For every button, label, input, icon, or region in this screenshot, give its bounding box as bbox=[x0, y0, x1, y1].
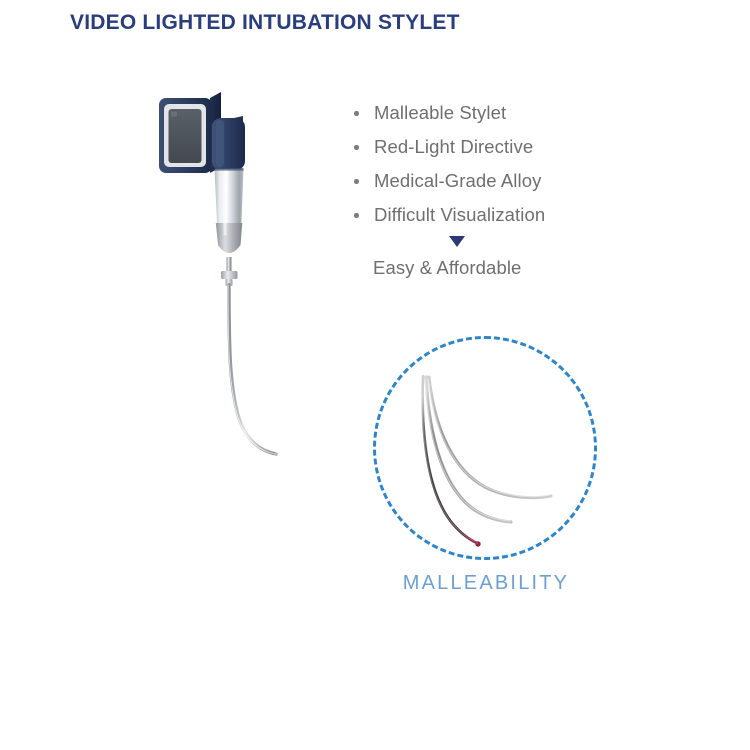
red-light-tip bbox=[475, 541, 480, 546]
feature-item-label: Difficult Visualization bbox=[374, 204, 545, 225]
conclusion-label: Easy & Affordable bbox=[373, 257, 521, 279]
bullet-icon bbox=[354, 179, 359, 184]
stylet-curve-dark bbox=[422, 376, 481, 547]
malleability-label: MALLEABILITY bbox=[401, 572, 571, 595]
feature-item-label: Red-Light Directive bbox=[374, 136, 533, 157]
page-title: VIDEO LIGHTED INTUBATION STYLET bbox=[70, 11, 460, 35]
device-handle bbox=[215, 168, 244, 253]
feature-list: Malleable Stylet Red-Light Directive Med… bbox=[352, 96, 545, 232]
monitor-connector bbox=[211, 116, 245, 170]
stylet-shaft bbox=[228, 285, 278, 456]
malleability-illustration bbox=[373, 336, 597, 560]
stylet-curve-light bbox=[428, 377, 551, 498]
feature-item-label: Medical-Grade Alloy bbox=[374, 170, 541, 191]
device-illustration bbox=[150, 85, 330, 490]
malleable-stylet-curves bbox=[373, 336, 597, 560]
bullet-icon bbox=[354, 213, 359, 218]
triangle-down-icon bbox=[449, 236, 465, 247]
feature-item: Medical-Grade Alloy bbox=[352, 164, 545, 198]
feature-item: Red-Light Directive bbox=[352, 130, 545, 164]
bullet-icon bbox=[354, 111, 359, 116]
feature-item: Difficult Visualization bbox=[352, 198, 545, 232]
feature-item-label: Malleable Stylet bbox=[374, 102, 506, 123]
bullet-icon bbox=[354, 145, 359, 150]
feature-item: Malleable Stylet bbox=[352, 96, 545, 130]
shaft-collar bbox=[221, 257, 238, 286]
